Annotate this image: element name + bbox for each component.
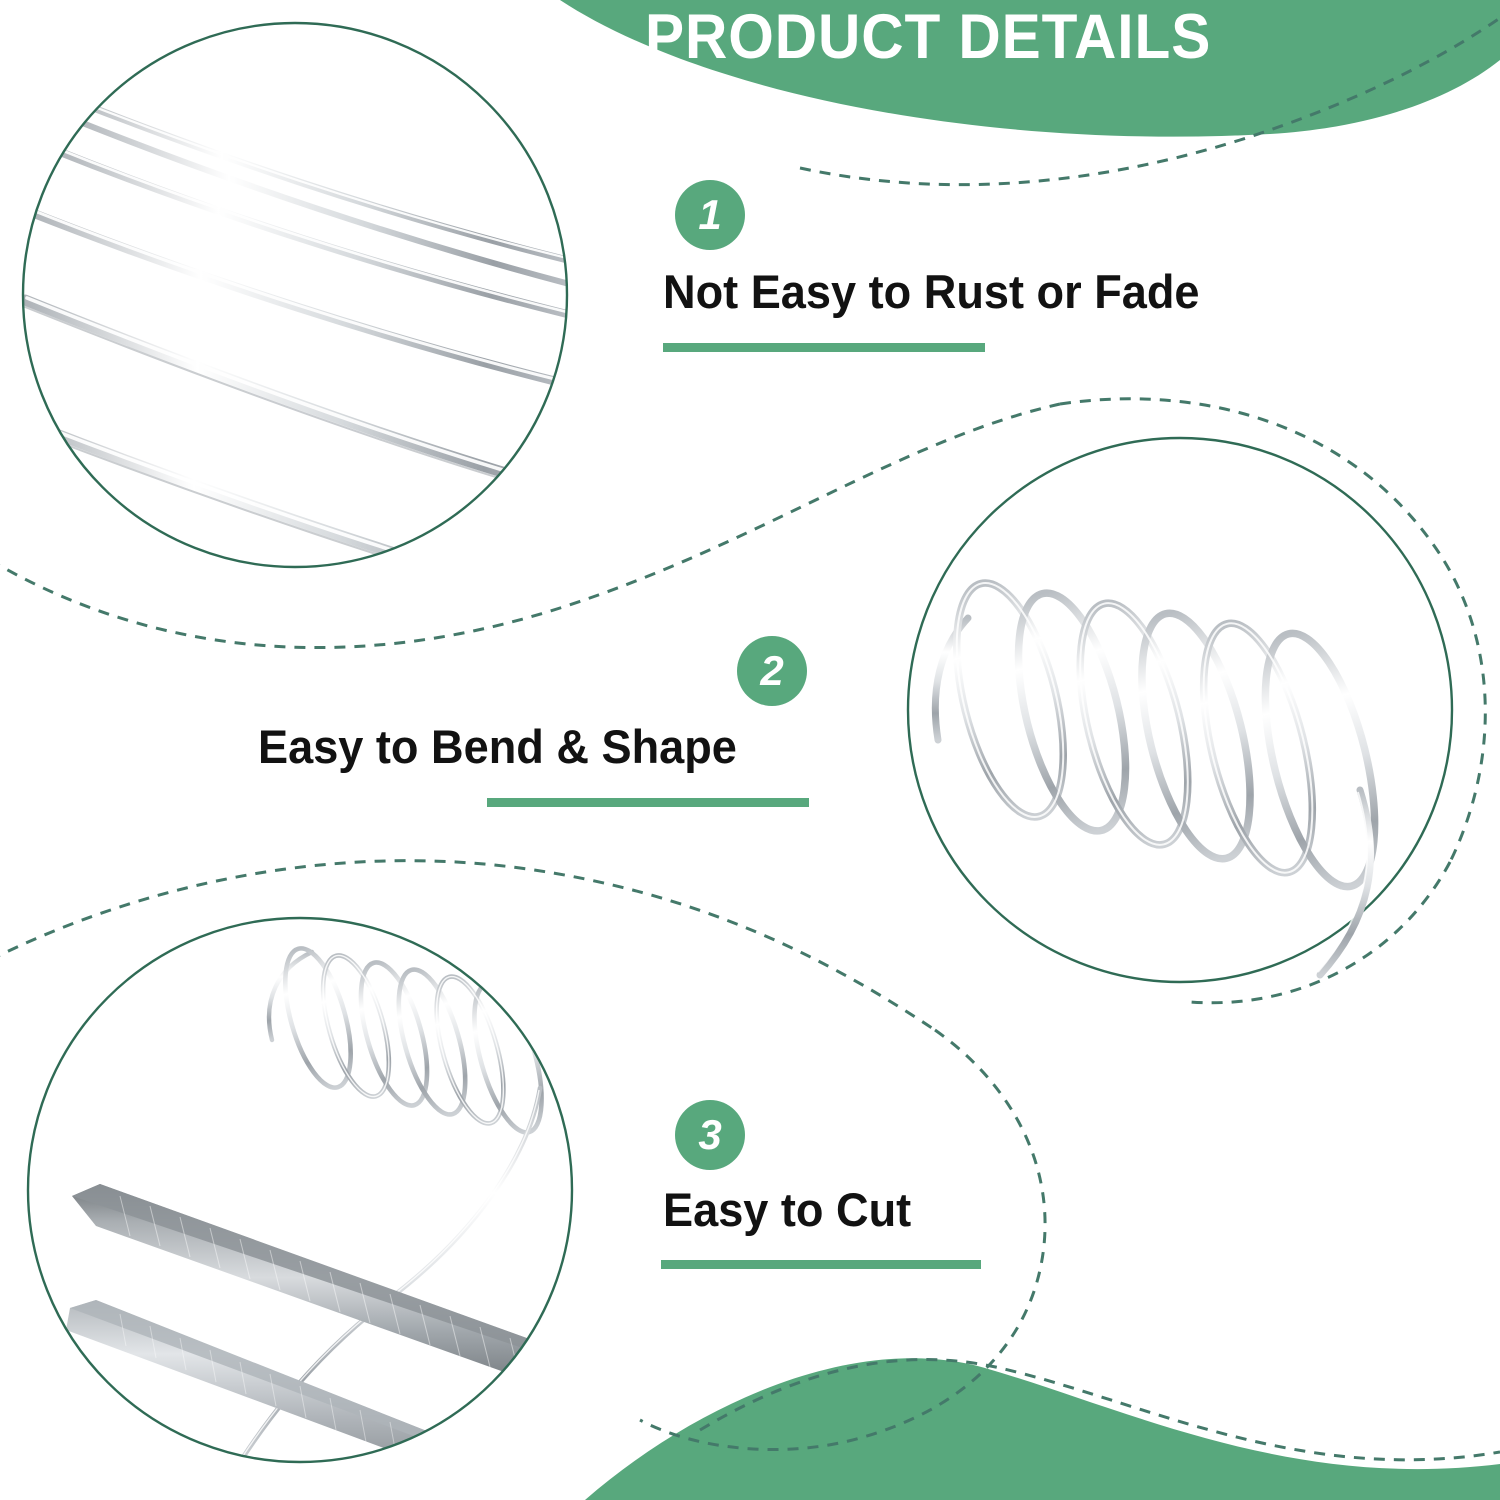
photo-circle-coiled-spring xyxy=(908,438,1452,982)
photo-circle-wire-strands xyxy=(20,20,600,619)
feature-underline-2 xyxy=(487,798,809,807)
scissor-blade-lower xyxy=(66,1300,480,1480)
product-details-infographic: PRODUCT DETAILS 1 Not Easy to Rust or Fa… xyxy=(0,0,1500,1500)
feature-heading-2: Easy to Bend & Shape xyxy=(258,723,737,770)
dashed-connector-curves xyxy=(0,18,1500,1460)
page-title: PRODUCT DETAILS xyxy=(645,6,1259,69)
feature-heading-3: Easy to Cut xyxy=(663,1186,911,1233)
scissor-blade-upper xyxy=(72,1184,560,1392)
photo-circle-scissors-cutting xyxy=(28,918,572,1480)
feature-number-badge-2: 2 xyxy=(737,636,807,706)
feature-underline-1 xyxy=(663,343,985,352)
footer-wave-shape xyxy=(585,1358,1500,1500)
decorative-background xyxy=(0,0,1500,1500)
feature-number-badge-3: 3 xyxy=(675,1100,745,1170)
coil-spring-illustration xyxy=(935,572,1396,975)
feature-number-badge-1: 1 xyxy=(675,180,745,250)
coil-above-scissors xyxy=(239,941,555,1462)
feature-underline-3 xyxy=(661,1260,981,1269)
feature-heading-1: Not Easy to Rust or Fade xyxy=(663,268,1200,315)
